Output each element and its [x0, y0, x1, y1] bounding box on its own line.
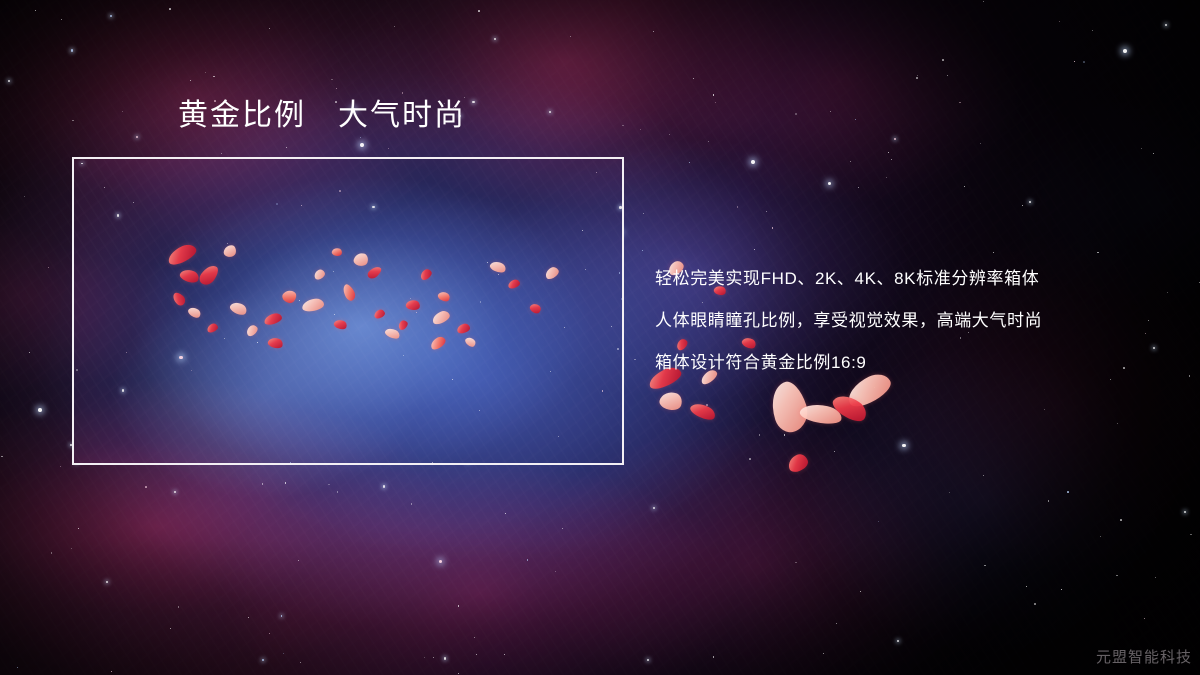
photo-frame [72, 157, 624, 465]
body-text-block: 轻松完美实现FHD、2K、4K、8K标准分辨率箱体 人体眼睛瞳孔比例，享受视觉效… [655, 258, 1175, 384]
photo-frame-inner [74, 159, 622, 463]
presentation-slide: 黄金比例 大气时尚 轻松完美实现FHD、2K、4K、8K标准分辨率箱体 人体眼睛… [0, 0, 1200, 675]
photo-starfield [74, 159, 622, 463]
watermark: 元盟智能科技 [1096, 646, 1192, 667]
photo-base-gradient [74, 159, 622, 463]
body-text-line-3: 箱体设计符合黄金比例16:9 [655, 342, 1175, 384]
page-title: 黄金比例 大气时尚 [178, 98, 466, 134]
photo-petals [74, 159, 622, 463]
photo-filaments [74, 159, 622, 463]
photo-nebula-red [74, 159, 622, 463]
photo-nebula-blue [74, 159, 622, 463]
body-text-line-2: 人体眼睛瞳孔比例，享受视觉效果，高端大气时尚 [655, 300, 1175, 342]
body-text-line-1: 轻松完美实现FHD、2K、4K、8K标准分辨率箱体 [655, 258, 1175, 300]
